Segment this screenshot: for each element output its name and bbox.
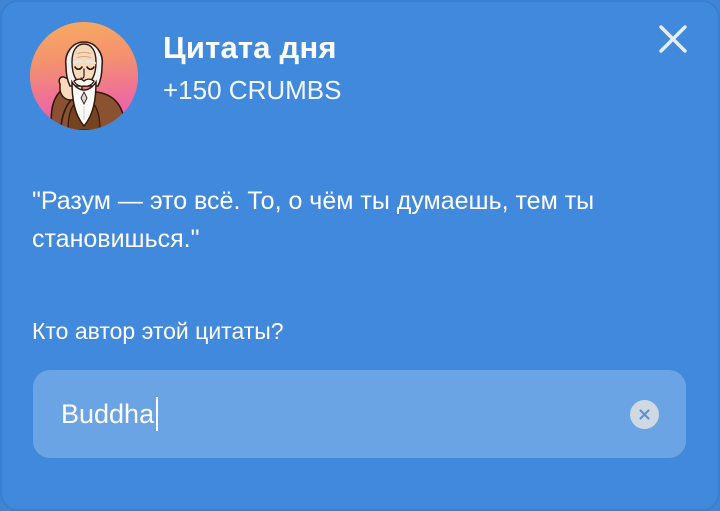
clear-circle-icon: [636, 406, 653, 423]
close-icon: [656, 22, 690, 56]
header-text-block: Цитата дня +150 CRUMBS: [163, 22, 341, 106]
reward-amount: +150 CRUMBS: [163, 75, 341, 106]
answer-input-value: Buddha: [61, 399, 154, 430]
answer-value-wrapper: Buddha: [61, 397, 630, 431]
text-caret: [156, 397, 158, 431]
question-label: Кто автор этой цитаты?: [32, 318, 284, 345]
quote-text: "Разум — это всё. То, о чём ты думаешь, …: [32, 182, 672, 258]
answer-input[interactable]: Buddha: [33, 370, 686, 458]
quote-of-the-day-modal: Цитата дня +150 CRUMBS "Разум — это всё.…: [0, 0, 720, 511]
close-button[interactable]: [650, 16, 696, 62]
clear-input-button[interactable]: [630, 400, 659, 429]
modal-header: Цитата дня +150 CRUMBS: [30, 22, 341, 130]
wise-old-man-avatar: [30, 22, 138, 130]
modal-title: Цитата дня: [163, 30, 341, 66]
